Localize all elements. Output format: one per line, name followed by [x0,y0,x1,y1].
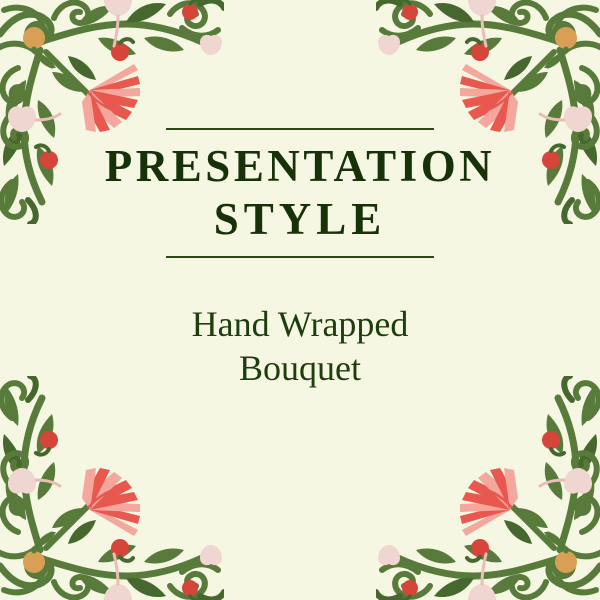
ornament-bottom-left [0,376,224,600]
page-title: PRESENTATION STYLE [0,140,600,246]
subtitle-line-2: Bouquet [0,346,600,390]
ornament-bottom-right [376,376,600,600]
divider-rule-top [166,128,434,130]
subtitle-line-1: Hand Wrapped [0,302,600,346]
divider-rule-bottom [166,256,434,258]
subtitle: Hand Wrapped Bouquet [0,302,600,390]
title-line-1: PRESENTATION [105,141,495,191]
decorative-card: PRESENTATION STYLE Hand Wrapped Bouquet [0,0,600,600]
title-block: PRESENTATION STYLE [0,128,600,258]
title-line-2: STYLE [6,193,594,246]
